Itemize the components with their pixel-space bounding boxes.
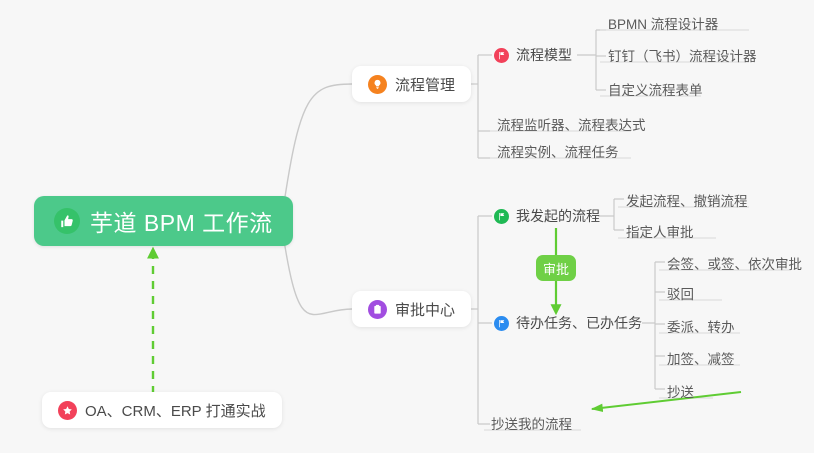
link-root-to-process-management	[283, 84, 352, 210]
branch-label-process-management: 流程管理	[395, 74, 455, 95]
leaf-label: 流程实例、流程任务	[497, 141, 619, 161]
leaf-node-custom-form[interactable]: 自定义流程表单	[602, 77, 711, 101]
thumbs-up-icon	[54, 208, 80, 234]
leaf-node-cc-to-me[interactable]: 抄送我的流程	[485, 411, 580, 435]
flag-icon	[494, 209, 509, 224]
topic-label-process-model: 流程模型	[516, 45, 572, 65]
topic-label-todo-done-tasks: 待办任务、已办任务	[516, 313, 642, 333]
leaf-node-delegate-transfer[interactable]: 委派、转办	[661, 314, 743, 338]
leaf-node-listener-expression[interactable]: 流程监听器、流程表达式	[491, 112, 654, 136]
leaf-label: 抄送我的流程	[491, 413, 572, 433]
leaf-label: 钉钉（飞书）流程设计器	[608, 45, 757, 65]
branch-label-approval-center: 审批中心	[395, 299, 455, 320]
leaf-node-reject[interactable]: 驳回	[661, 281, 702, 305]
leaf-node-add-remove-sign[interactable]: 加签、减签	[661, 346, 743, 370]
floating-node-integration-practice[interactable]: OA、CRM、ERP 打通实战	[42, 392, 282, 428]
branch-node-process-management[interactable]: 流程管理	[352, 66, 471, 102]
leaf-label: 委派、转办	[667, 316, 735, 336]
clipboard-icon	[368, 300, 387, 319]
mindmap-canvas: 芋道 BPM 工作流 流程管理 流程模型 BPMN 流程设计器 钉钉（飞书）流程…	[0, 0, 814, 453]
flag-icon	[494, 316, 509, 331]
leaf-node-bpmn-designer[interactable]: BPMN 流程设计器	[602, 11, 726, 35]
topic-node-process-model[interactable]: 流程模型	[492, 42, 578, 68]
branch-node-approval-center[interactable]: 审批中心	[352, 291, 471, 327]
leaf-label: 抄送	[667, 381, 694, 401]
root-node[interactable]: 芋道 BPM 工作流	[34, 196, 293, 246]
topic-label-my-initiated-process: 我发起的流程	[516, 206, 600, 226]
topic-node-my-initiated-process[interactable]: 我发起的流程	[492, 203, 606, 229]
root-label: 芋道 BPM 工作流	[90, 204, 273, 238]
leaf-label: 自定义流程表单	[608, 79, 703, 99]
link-root-to-approval-center	[283, 234, 352, 315]
leaf-label: 驳回	[667, 283, 694, 303]
leaf-label: 发起流程、撤销流程	[626, 190, 748, 210]
flow-badge-label: 审批	[543, 259, 569, 278]
topic-node-todo-done-tasks[interactable]: 待办任务、已办任务	[492, 310, 648, 336]
leaf-node-assignee-approval[interactable]: 指定人审批	[620, 219, 702, 243]
leaf-node-carbon-copy[interactable]: 抄送	[661, 379, 702, 403]
leaf-label: BPMN 流程设计器	[608, 13, 718, 33]
leaf-label: 指定人审批	[626, 221, 694, 241]
leaf-node-start-cancel-process[interactable]: 发起流程、撤销流程	[620, 188, 756, 212]
leaf-node-instance-task[interactable]: 流程实例、流程任务	[491, 139, 627, 163]
flow-badge-approval[interactable]: 审批	[536, 255, 576, 281]
leaf-label: 加签、减签	[667, 348, 735, 368]
leaf-label: 流程监听器、流程表达式	[497, 114, 646, 134]
leaf-node-dingtalk-designer[interactable]: 钉钉（飞书）流程设计器	[602, 43, 765, 67]
lightbulb-icon	[368, 75, 387, 94]
flag-icon	[494, 48, 509, 63]
leaf-node-countersign[interactable]: 会签、或签、依次审批	[661, 251, 810, 275]
star-icon	[58, 401, 77, 420]
leaf-label: 会签、或签、依次审批	[667, 253, 802, 273]
floating-node-label: OA、CRM、ERP 打通实战	[85, 400, 266, 421]
